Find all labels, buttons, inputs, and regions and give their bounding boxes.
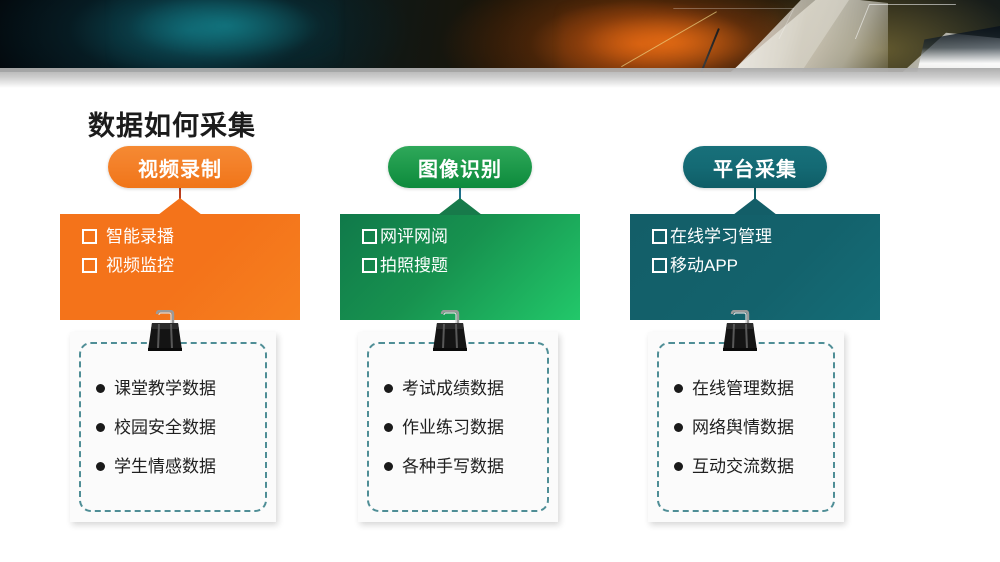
box-platform-collection: 在线学习管理 移动APP	[630, 214, 880, 320]
box-item-label: 在线学习管理	[670, 228, 772, 245]
note-item-label: 学生情感数据	[114, 458, 216, 475]
note-list-item: 课堂教学数据	[80, 380, 266, 397]
pill-platform-collection[interactable]: 平台采集	[683, 146, 827, 188]
hollow-square-bullet-icon	[82, 258, 97, 273]
box-item-label: 智能录播	[106, 228, 174, 245]
column-video-recording: 视频录制 智能录播 视频监控 课堂教学数据	[60, 146, 300, 522]
banner-teal-glow	[110, 0, 340, 66]
note-list-item: 网络舆情数据	[658, 419, 834, 436]
box-notch-icon	[733, 198, 777, 215]
hollow-square-bullet-icon	[652, 258, 667, 273]
binder-clip-icon	[714, 310, 766, 356]
note-item-list: 考试成绩数据 作业练习数据 各种手写数据	[368, 348, 548, 506]
note-list-item: 各种手写数据	[368, 458, 548, 475]
note-card: 在线管理数据 网络舆情数据 互动交流数据	[648, 332, 844, 522]
banner-gray-band	[0, 68, 1000, 88]
pill-label: 图像识别	[418, 153, 502, 182]
note-list-item: 校园安全数据	[80, 419, 266, 436]
page-title: 数据如何采集	[88, 104, 256, 143]
pill-label: 平台采集	[713, 153, 797, 182]
box-item-label: 视频监控	[106, 257, 174, 274]
note-item-label: 作业练习数据	[402, 419, 504, 436]
note-item-label: 校园安全数据	[114, 419, 216, 436]
note-wrap-image-recognition: 考试成绩数据 作业练习数据 各种手写数据	[340, 332, 580, 522]
note-item-list: 课堂教学数据 校园安全数据 学生情感数据	[80, 348, 266, 506]
box-notch-icon	[158, 198, 202, 215]
box-video-recording: 智能录播 视频监控	[60, 214, 300, 320]
box-item-list: 在线学习管理 移动APP	[630, 228, 880, 274]
header-banner	[0, 0, 1000, 72]
box-body: 智能录播 视频监控	[60, 214, 300, 320]
filled-round-bullet-icon	[384, 384, 393, 393]
box-item-list: 网评网阅 拍照搜题	[340, 228, 580, 274]
note-item-label: 网络舆情数据	[692, 419, 794, 436]
box-list-item: 网评网阅	[340, 228, 580, 245]
note-list-item: 考试成绩数据	[368, 380, 548, 397]
hollow-square-bullet-icon	[82, 229, 97, 244]
note-item-list: 在线管理数据 网络舆情数据 互动交流数据	[658, 348, 834, 506]
box-image-recognition: 网评网阅 拍照搜题	[340, 214, 580, 320]
box-item-list: 智能录播 视频监控	[60, 228, 300, 274]
hollow-square-bullet-icon	[362, 258, 377, 273]
box-list-item: 移动APP	[630, 257, 880, 274]
filled-round-bullet-icon	[96, 384, 105, 393]
note-item-label: 在线管理数据	[692, 380, 794, 397]
binder-clip-icon	[139, 310, 191, 356]
box-list-item: 智能录播	[60, 228, 300, 245]
box-body: 在线学习管理 移动APP	[630, 214, 880, 320]
note-item-label: 课堂教学数据	[114, 380, 216, 397]
box-item-label: 拍照搜题	[380, 257, 448, 274]
box-body: 网评网阅 拍照搜题	[340, 214, 580, 320]
filled-round-bullet-icon	[384, 423, 393, 432]
note-item-label: 考试成绩数据	[402, 380, 504, 397]
box-notch-icon	[438, 198, 482, 215]
note-list-item: 学生情感数据	[80, 458, 266, 475]
banner-wireframe-line-1	[855, 4, 956, 39]
note-card: 考试成绩数据 作业练习数据 各种手写数据	[358, 332, 558, 522]
binder-clip-icon	[424, 310, 476, 356]
box-list-item: 视频监控	[60, 257, 300, 274]
note-list-item: 互动交流数据	[658, 458, 834, 475]
box-item-label: 移动APP	[670, 257, 738, 274]
pill-video-recording[interactable]: 视频录制	[108, 146, 252, 188]
filled-round-bullet-icon	[674, 462, 683, 471]
note-item-label: 互动交流数据	[692, 458, 794, 475]
filled-round-bullet-icon	[674, 384, 683, 393]
column-image-recognition: 图像识别 网评网阅 拍照搜题 考试成绩数据	[340, 146, 580, 522]
pill-label: 视频录制	[138, 153, 222, 182]
note-card: 课堂教学数据 校园安全数据 学生情感数据	[70, 332, 276, 522]
note-wrap-video-recording: 课堂教学数据 校园安全数据 学生情感数据	[60, 332, 300, 522]
hollow-square-bullet-icon	[362, 229, 377, 244]
column-platform-collection: 平台采集 在线学习管理 移动APP 在线管理数据	[630, 146, 880, 522]
filled-round-bullet-icon	[674, 423, 683, 432]
hollow-square-bullet-icon	[652, 229, 667, 244]
filled-round-bullet-icon	[96, 423, 105, 432]
note-item-label: 各种手写数据	[402, 458, 504, 475]
box-list-item: 拍照搜题	[340, 257, 580, 274]
note-wrap-platform-collection: 在线管理数据 网络舆情数据 互动交流数据	[630, 332, 880, 522]
box-list-item: 在线学习管理	[630, 228, 880, 245]
pill-image-recognition[interactable]: 图像识别	[388, 146, 532, 188]
filled-round-bullet-icon	[96, 462, 105, 471]
note-list-item: 在线管理数据	[658, 380, 834, 397]
box-item-label: 网评网阅	[380, 228, 448, 245]
filled-round-bullet-icon	[384, 462, 393, 471]
note-list-item: 作业练习数据	[368, 419, 548, 436]
